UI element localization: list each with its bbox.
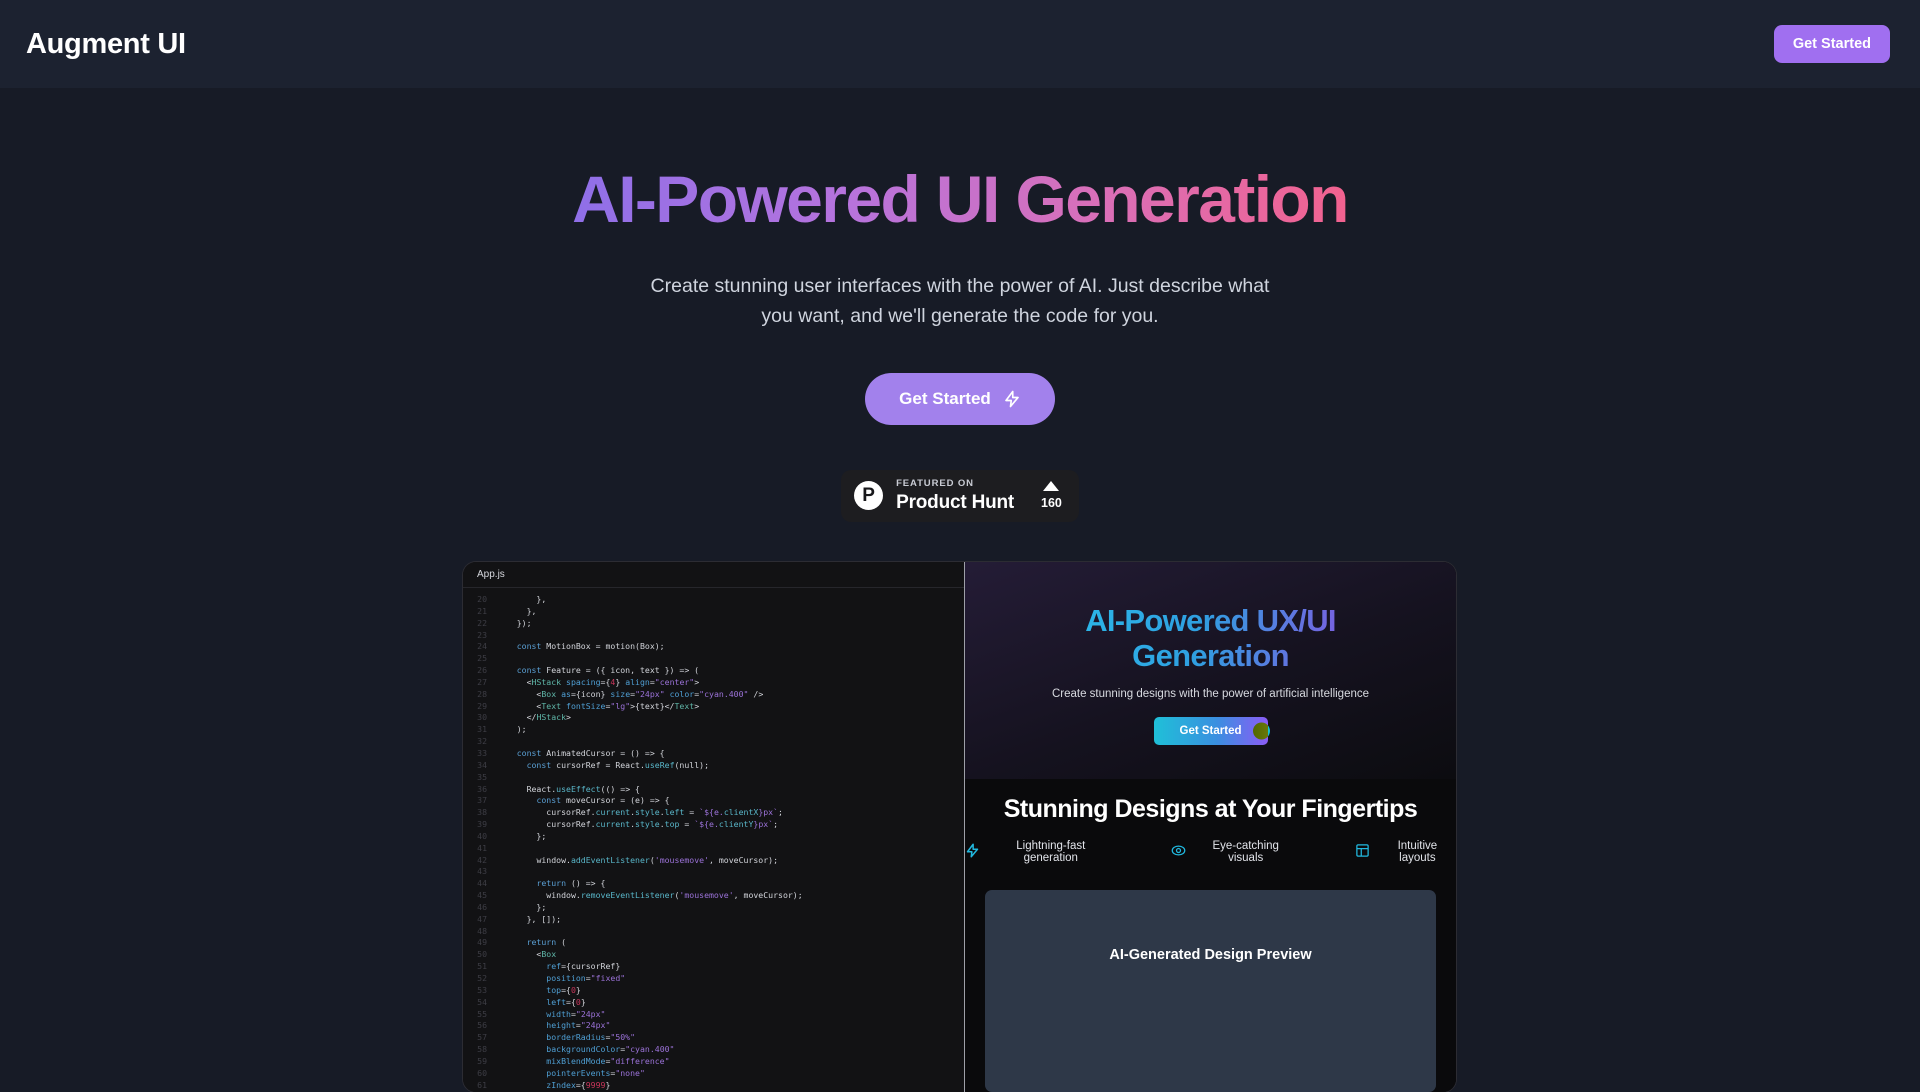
line-number: 58 xyxy=(463,1044,497,1056)
preview-band-title: Stunning Designs at Your Fingertips xyxy=(965,795,1456,824)
upvote-triangle-icon xyxy=(1043,481,1059,491)
line-number: 54 xyxy=(463,997,497,1009)
product-hunt-badge-wrapper: P FEATURED ON Product Hunt 160 xyxy=(0,470,1920,522)
code-line: 21 }, xyxy=(463,606,964,618)
line-content: mixBlendMode="difference" xyxy=(497,1056,670,1068)
line-number: 21 xyxy=(463,606,497,618)
code-line: 23 xyxy=(463,630,964,642)
line-content: window.removeEventListener('mousemove', … xyxy=(497,890,803,902)
line-number: 38 xyxy=(463,807,497,819)
code-line: 57 borderRadius="50%" xyxy=(463,1032,964,1044)
line-number: 29 xyxy=(463,701,497,713)
line-number: 24 xyxy=(463,641,497,653)
line-number: 59 xyxy=(463,1056,497,1068)
code-line: 51 ref={cursorRef} xyxy=(463,961,964,973)
preview-feature-label: Eye-catching visuals xyxy=(1195,840,1297,864)
product-hunt-upvote[interactable]: 160 xyxy=(1041,481,1062,510)
line-content xyxy=(497,630,502,642)
product-hunt-name: Product Hunt xyxy=(896,493,1014,512)
code-line: 30 </HStack> xyxy=(463,712,964,724)
preview-title: AI-Powered UX/UI Generation xyxy=(1085,604,1336,673)
line-content: pointerEvents="none" xyxy=(497,1068,645,1080)
product-hunt-logo-icon: P xyxy=(854,481,883,510)
line-content xyxy=(497,926,502,938)
line-content: const AnimatedCursor = () => { xyxy=(497,748,665,760)
code-line: 22 }); xyxy=(463,618,964,630)
design-preview-label: AI-Generated Design Preview xyxy=(1109,947,1311,963)
product-hunt-kicker: FEATURED ON xyxy=(896,479,1014,489)
code-editor-pane: App.js 20 },21 },22 });23 24 const Motio… xyxy=(463,562,965,1092)
line-number: 48 xyxy=(463,926,497,938)
line-number: 53 xyxy=(463,985,497,997)
live-preview-pane: AI-Powered UX/UI Generation Create stunn… xyxy=(965,562,1456,1092)
line-number: 34 xyxy=(463,760,497,772)
line-number: 31 xyxy=(463,724,497,736)
line-number: 40 xyxy=(463,831,497,843)
line-content: }, xyxy=(497,606,536,618)
line-number: 41 xyxy=(463,843,497,855)
line-content: const cursorRef = React.useRef(null); xyxy=(497,760,709,772)
line-number: 51 xyxy=(463,961,497,973)
code-line: 46 }; xyxy=(463,902,964,914)
hero-subtitle-line-2: you want, and we'll generate the code fo… xyxy=(761,305,1158,327)
code-line: 24 const MotionBox = motion(Box); xyxy=(463,641,964,653)
line-number: 33 xyxy=(463,748,497,760)
animated-cursor-dot xyxy=(1253,723,1270,740)
line-number: 20 xyxy=(463,594,497,606)
line-content: position="fixed" xyxy=(497,973,625,985)
code-line: 26 const Feature = ({ icon, text }) => ( xyxy=(463,665,964,677)
line-content: <Box xyxy=(497,949,556,961)
code-line: 27 <HStack spacing={4} align="center"> xyxy=(463,677,964,689)
preview-feature-item: Eye-catching visuals xyxy=(1171,840,1297,864)
line-content: top={0} xyxy=(497,985,581,997)
code-line: 45 window.removeEventListener('mousemove… xyxy=(463,890,964,902)
line-content: }; xyxy=(497,831,546,843)
code-line: 49 return ( xyxy=(463,937,964,949)
line-number: 52 xyxy=(463,973,497,985)
line-number: 30 xyxy=(463,712,497,724)
line-content: width="24px" xyxy=(497,1009,605,1021)
preview-get-started-button[interactable]: Get Started xyxy=(1154,717,1268,745)
hero-get-started-label: Get Started xyxy=(899,389,991,409)
line-number: 37 xyxy=(463,795,497,807)
code-line: 50 <Box xyxy=(463,949,964,961)
line-content: </HStack> xyxy=(497,712,571,724)
code-line: 39 cursorRef.current.style.top = `${e.cl… xyxy=(463,819,964,831)
line-number: 42 xyxy=(463,855,497,867)
hero-subtitle-line-1: Create stunning user interfaces with the… xyxy=(651,275,1270,297)
code-line: 59 mixBlendMode="difference" xyxy=(463,1056,964,1068)
line-content: <Text fontSize="lg">{text}</Text> xyxy=(497,701,699,713)
line-content: const MotionBox = motion(Box); xyxy=(497,641,665,653)
line-content xyxy=(497,866,502,878)
code-line: 54 left={0} xyxy=(463,997,964,1009)
preview-feature-band: Stunning Designs at Your Fingertips Ligh… xyxy=(965,779,1456,882)
brand-logo-text[interactable]: Augment UI xyxy=(26,28,186,61)
code-line: 38 cursorRef.current.style.left = `${e.c… xyxy=(463,807,964,819)
line-number: 28 xyxy=(463,689,497,701)
preview-title-line-1: AI-Powered UX/UI xyxy=(1085,603,1336,638)
line-number: 56 xyxy=(463,1020,497,1032)
code-line: 55 width="24px" xyxy=(463,1009,964,1021)
code-line: 32 xyxy=(463,736,964,748)
line-number: 57 xyxy=(463,1032,497,1044)
line-number: 61 xyxy=(463,1080,497,1092)
line-number: 49 xyxy=(463,937,497,949)
preview-feature-label: Intuitive layouts xyxy=(1379,840,1456,864)
line-content: <Box as={icon} size="24px" color="cyan.4… xyxy=(497,689,763,701)
code-line: 20 }, xyxy=(463,594,964,606)
line-content: zIndex={9999} xyxy=(497,1080,610,1092)
preview-get-started-label: Get Started xyxy=(1180,725,1242,737)
line-content: }); xyxy=(497,618,532,630)
hero-subtitle: Create stunning user interfaces with the… xyxy=(0,271,1920,331)
line-number: 36 xyxy=(463,784,497,796)
line-content: cursorRef.current.style.top = `${e.clien… xyxy=(497,819,778,831)
line-content: cursorRef.current.style.left = `${e.clie… xyxy=(497,807,783,819)
upvote-count: 160 xyxy=(1041,497,1062,510)
editor-filename: App.js xyxy=(477,569,505,580)
line-number: 50 xyxy=(463,949,497,961)
lightning-bolt-icon xyxy=(1003,390,1021,408)
code-line: 56 height="24px" xyxy=(463,1020,964,1032)
line-number: 27 xyxy=(463,677,497,689)
line-number: 47 xyxy=(463,914,497,926)
page-title: AI-Powered UI Generation xyxy=(572,164,1348,235)
line-number: 25 xyxy=(463,653,497,665)
line-content: }; xyxy=(497,902,546,914)
line-number: 39 xyxy=(463,819,497,831)
code-line: 42 window.addEventListener('mousemove', … xyxy=(463,855,964,867)
line-number: 35 xyxy=(463,772,497,784)
line-number: 60 xyxy=(463,1068,497,1080)
line-content: height="24px" xyxy=(497,1020,610,1032)
preview-title-line-2: Generation xyxy=(1132,638,1289,673)
hero-section: AI-Powered UI Generation Create stunning… xyxy=(0,88,1920,522)
line-content: ); xyxy=(497,724,527,736)
preview-subtitle: Create stunning designs with the power o… xyxy=(985,688,1436,700)
layout-grid-icon xyxy=(1355,843,1370,861)
line-number: 45 xyxy=(463,890,497,902)
line-number: 55 xyxy=(463,1009,497,1021)
line-number: 32 xyxy=(463,736,497,748)
code-line: 61 zIndex={9999} xyxy=(463,1080,964,1092)
code-line: 29 <Text fontSize="lg">{text}</Text> xyxy=(463,701,964,713)
hero-get-started-button[interactable]: Get Started xyxy=(865,373,1055,425)
line-content: <HStack spacing={4} align="center"> xyxy=(497,677,699,689)
eye-icon xyxy=(1171,843,1186,861)
line-content: borderRadius="50%" xyxy=(497,1032,635,1044)
code-line: 58 backgroundColor="cyan.400" xyxy=(463,1044,964,1056)
line-content: ref={cursorRef} xyxy=(497,961,620,973)
code-line: 43 xyxy=(463,866,964,878)
line-content xyxy=(497,653,502,665)
code-line: 34 const cursorRef = React.useRef(null); xyxy=(463,760,964,772)
product-hunt-text: FEATURED ON Product Hunt xyxy=(896,479,1014,512)
line-number: 22 xyxy=(463,618,497,630)
preview-feature-label: Lightning-fast generation xyxy=(989,840,1113,864)
top-navigation-bar: Augment UI Get Started xyxy=(0,0,1920,88)
line-number: 46 xyxy=(463,902,497,914)
line-content: const moveCursor = (e) => { xyxy=(497,795,670,807)
code-line: 37 const moveCursor = (e) => { xyxy=(463,795,964,807)
code-line: 41 xyxy=(463,843,964,855)
code-line: 36 React.useEffect(() => { xyxy=(463,784,964,796)
preview-feature-list: Lightning-fast generation Eye-catching v… xyxy=(965,840,1456,864)
code-editor-content[interactable]: 20 },21 },22 });23 24 const MotionBox = … xyxy=(463,588,964,1092)
code-line: 52 position="fixed" xyxy=(463,973,964,985)
line-content xyxy=(497,772,502,784)
code-line: 40 }; xyxy=(463,831,964,843)
preview-hero: AI-Powered UX/UI Generation Create stunn… xyxy=(965,562,1456,779)
line-content: }, []); xyxy=(497,914,561,926)
line-content: return () => { xyxy=(497,878,605,890)
line-number: 43 xyxy=(463,866,497,878)
line-number: 44 xyxy=(463,878,497,890)
line-content xyxy=(497,843,502,855)
code-line: 60 pointerEvents="none" xyxy=(463,1068,964,1080)
header-get-started-button[interactable]: Get Started xyxy=(1774,25,1890,63)
product-hunt-badge[interactable]: P FEATURED ON Product Hunt 160 xyxy=(841,470,1079,522)
code-line: 53 top={0} xyxy=(463,985,964,997)
showcase-panel: App.js 20 },21 },22 });23 24 const Motio… xyxy=(463,562,1456,1092)
code-line: 35 xyxy=(463,772,964,784)
preview-stage: AI-Generated Design Preview xyxy=(965,882,1456,1092)
line-content: return ( xyxy=(497,937,566,949)
editor-file-tab[interactable]: App.js xyxy=(463,562,964,588)
code-line: 48 xyxy=(463,926,964,938)
lightning-bolt-icon xyxy=(965,843,980,861)
code-line: 33 const AnimatedCursor = () => { xyxy=(463,748,964,760)
preview-feature-item: Lightning-fast generation xyxy=(965,840,1113,864)
line-content: left={0} xyxy=(497,997,586,1009)
code-line: 31 ); xyxy=(463,724,964,736)
line-content: window.addEventListener('mousemove', mov… xyxy=(497,855,778,867)
line-content: React.useEffect(() => { xyxy=(497,784,640,796)
code-line: 25 xyxy=(463,653,964,665)
code-line: 47 }, []); xyxy=(463,914,964,926)
code-line: 44 return () => { xyxy=(463,878,964,890)
preview-feature-item: Intuitive layouts xyxy=(1355,840,1456,864)
line-content: }, xyxy=(497,594,546,606)
design-preview-card: AI-Generated Design Preview xyxy=(985,890,1436,1092)
line-number: 23 xyxy=(463,630,497,642)
line-number: 26 xyxy=(463,665,497,677)
line-content xyxy=(497,736,502,748)
code-line: 28 <Box as={icon} size="24px" color="cya… xyxy=(463,689,964,701)
line-content: backgroundColor="cyan.400" xyxy=(497,1044,674,1056)
line-content: const Feature = ({ icon, text }) => ( xyxy=(497,665,699,677)
